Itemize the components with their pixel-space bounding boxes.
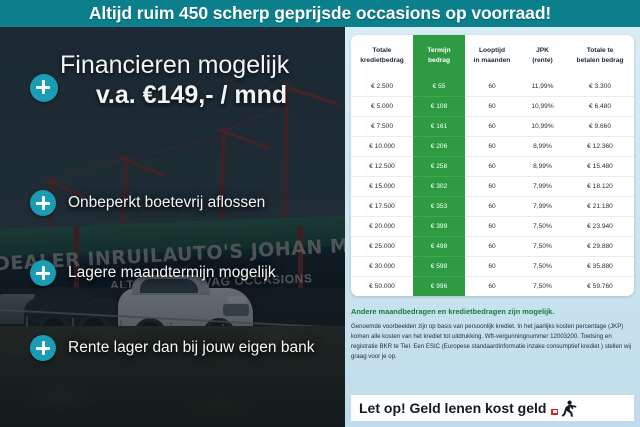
plus-icon (30, 335, 56, 361)
cell-r7-c4: 7,99% (519, 197, 566, 217)
cell-r4-c1: € 10.000 (351, 137, 413, 157)
cell-r8-c3: 60 (465, 217, 519, 237)
legal-warning-text: Let op! Geld lenen kost geld (359, 400, 546, 416)
column-header-3: Looptijdin maanden (465, 35, 519, 77)
table-row: € 12.500€ 258608,99%€ 15.480 (351, 157, 634, 177)
feature-label-2: Lagere maandtermijn mogelijk (68, 264, 276, 282)
cell-r9-c5: € 29.880 (566, 237, 634, 257)
cell-r1-c1: € 2.500 (351, 77, 413, 97)
table-row: € 10.000€ 206608,99%€ 12.360 (351, 137, 634, 157)
plus-icon (30, 74, 58, 102)
cell-r4-c3: 60 (465, 137, 519, 157)
cell-r3-c5: € 9.660 (566, 117, 634, 137)
credit-table-container: TotalekredietbedragTermijnbedragLooptijd… (351, 35, 634, 296)
headline: Financieren mogelijk v.a. €149,- / mnd (60, 52, 345, 110)
cell-r1-c5: € 3.300 (566, 77, 634, 97)
cell-r3-c1: € 7.500 (351, 117, 413, 137)
bullet-headline-marker (30, 74, 58, 102)
finance-info-card: TotalekredietbedragTermijnbedragLooptijd… (345, 27, 640, 427)
plus-icon (30, 190, 56, 216)
cell-r1-c2: € 55 (413, 77, 465, 97)
table-row: € 50.000€ 996607,50%€ 59.760 (351, 277, 634, 297)
cell-r9-c2: € 498 (413, 237, 465, 257)
cell-r8-c2: € 399 (413, 217, 465, 237)
top-banner-text: Altijd ruim 450 scherp geprijsde occasio… (0, 0, 640, 27)
cell-r5-c4: 8,99% (519, 157, 566, 177)
cell-r6-c2: € 302 (413, 177, 465, 197)
feature-item-2: Lagere maandtermijn mogelijk (30, 260, 276, 286)
cell-r3-c3: 60 (465, 117, 519, 137)
cell-r9-c3: 60 (465, 237, 519, 257)
cell-r1-c4: 11,99% (519, 77, 566, 97)
cell-r7-c3: 60 (465, 197, 519, 217)
cell-r6-c1: € 15.000 (351, 177, 413, 197)
credit-table-body: € 2.500€ 556011,99%€ 3.300€ 5.000€ 10860… (351, 77, 634, 296)
cell-r11-c3: 60 (465, 277, 519, 297)
cell-r8-c5: € 23.940 (566, 217, 634, 237)
legal-warning-bar: Let op! Geld lenen kost geld (351, 395, 634, 421)
credit-table: TotalekredietbedragTermijnbedragLooptijd… (351, 35, 634, 296)
left-feature-column: Financieren mogelijk v.a. €149,- / mnd O… (0, 27, 345, 427)
cell-r5-c5: € 15.480 (566, 157, 634, 177)
cell-r11-c4: 7,50% (519, 277, 566, 297)
cell-r6-c3: 60 (465, 177, 519, 197)
note-title: Andere maandbedragen en kredietbedragen … (351, 307, 634, 317)
cell-r2-c4: 10,99% (519, 97, 566, 117)
cell-r8-c1: € 20.000 (351, 217, 413, 237)
running-man-warning-icon (551, 400, 573, 417)
cell-r5-c3: 60 (465, 157, 519, 177)
cell-r4-c2: € 206 (413, 137, 465, 157)
table-row: € 30.000€ 598607,50%€ 35.880 (351, 257, 634, 277)
cell-r7-c5: € 21.180 (566, 197, 634, 217)
cell-r2-c2: € 108 (413, 97, 465, 117)
cell-r7-c1: € 17.500 (351, 197, 413, 217)
column-header-2: Termijnbedrag (413, 35, 465, 77)
cell-r9-c1: € 25.000 (351, 237, 413, 257)
cell-r6-c5: € 18.120 (566, 177, 634, 197)
cell-r4-c4: 8,99% (519, 137, 566, 157)
cell-r10-c5: € 35.880 (566, 257, 634, 277)
cell-r3-c2: € 161 (413, 117, 465, 137)
cell-r6-c4: 7,99% (519, 177, 566, 197)
feature-item-3: Rente lager dan bij jouw eigen bank (30, 335, 314, 361)
table-row: € 17.500€ 353607,99%€ 21.180 (351, 197, 634, 217)
top-banner: Altijd ruim 450 scherp geprijsde occasio… (0, 0, 640, 27)
table-row: € 7.500€ 1616010,99%€ 9.660 (351, 117, 634, 137)
credit-table-head: TotalekredietbedragTermijnbedragLooptijd… (351, 35, 634, 77)
cell-r10-c2: € 598 (413, 257, 465, 277)
table-row: € 5.000€ 1086010,99%€ 6.480 (351, 97, 634, 117)
feature-label-1: Onbeperkt boetevrij aflossen (68, 194, 265, 212)
note-body: Genoemde voorbeelden zijn op basis van p… (351, 322, 634, 361)
table-header-row: TotalekredietbedragTermijnbedragLooptijd… (351, 35, 634, 77)
cell-r2-c1: € 5.000 (351, 97, 413, 117)
cell-r7-c2: € 353 (413, 197, 465, 217)
cell-r9-c4: 7,50% (519, 237, 566, 257)
cell-r5-c2: € 258 (413, 157, 465, 177)
cell-r8-c4: 7,50% (519, 217, 566, 237)
advertisement-banner: DEALER INRUILAUTO'S JOHAN MEURE ALTIJD 4… (0, 0, 640, 427)
headline-line-1: Financieren mogelijk (60, 52, 345, 78)
headline-line-2: v.a. €149,- / mnd (60, 81, 345, 110)
feature-label-3: Rente lager dan bij jouw eigen bank (68, 339, 314, 357)
cell-r3-c4: 10,99% (519, 117, 566, 137)
table-row: € 25.000€ 498607,50%€ 29.880 (351, 237, 634, 257)
cell-r11-c1: € 50.000 (351, 277, 413, 297)
table-row: € 15.000€ 302607,99%€ 18.120 (351, 177, 634, 197)
column-header-4: JPK(rente) (519, 35, 566, 77)
column-header-1: Totalekredietbedrag (351, 35, 413, 77)
table-row: € 2.500€ 556011,99%€ 3.300 (351, 77, 634, 97)
plus-icon (30, 260, 56, 286)
cell-r10-c3: 60 (465, 257, 519, 277)
cell-r2-c5: € 6.480 (566, 97, 634, 117)
card-content: TotalekredietbedragTermijnbedragLooptijd… (351, 35, 634, 362)
cell-r1-c3: 60 (465, 77, 519, 97)
cell-r11-c2: € 996 (413, 277, 465, 297)
cell-r10-c4: 7,50% (519, 257, 566, 277)
feature-item-1: Onbeperkt boetevrij aflossen (30, 190, 265, 216)
cell-r5-c1: € 12.500 (351, 157, 413, 177)
table-row: € 20.000€ 399607,50%€ 23.940 (351, 217, 634, 237)
column-header-5: Totale tebetalen bedrag (566, 35, 634, 77)
cell-r4-c5: € 12.360 (566, 137, 634, 157)
cell-r10-c1: € 30.000 (351, 257, 413, 277)
cell-r2-c3: 60 (465, 97, 519, 117)
cell-r11-c5: € 59.760 (566, 277, 634, 297)
